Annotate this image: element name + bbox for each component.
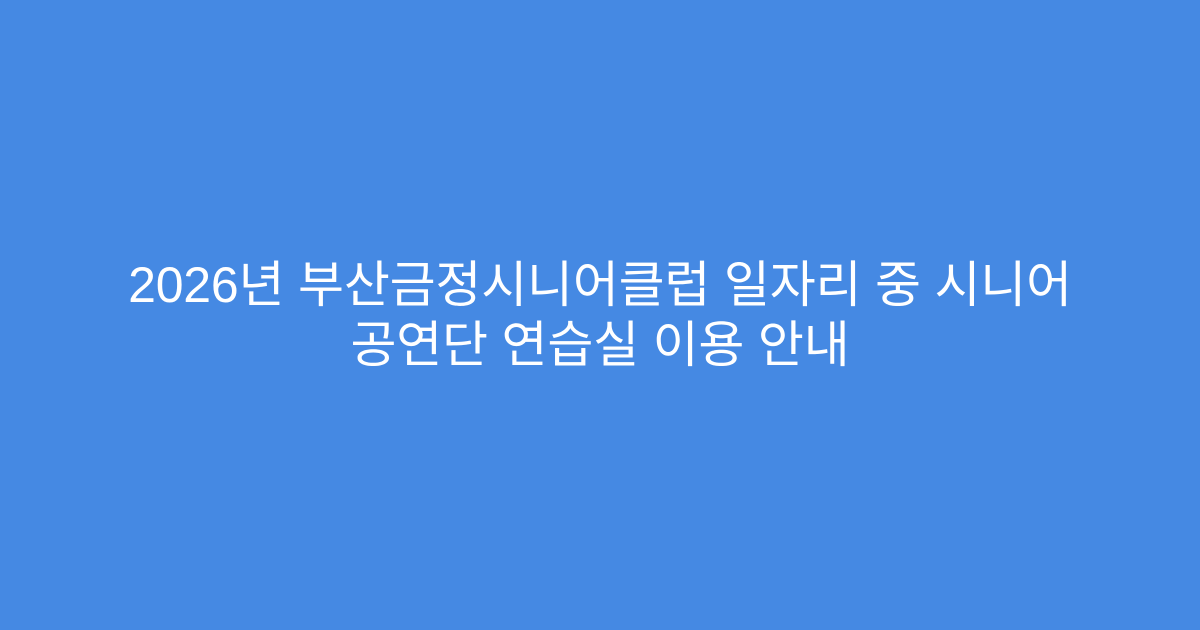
share-card-canvas: 2026년 부산금정시니어클럽 일자리 중 시니어 공연단 연습실 이용 안내 [0, 0, 1200, 630]
page-title: 2026년 부산금정시니어클럽 일자리 중 시니어 공연단 연습실 이용 안내 [70, 255, 1130, 375]
page-title-line-2: 공연단 연습실 이용 안내 [90, 315, 1110, 375]
page-title-line-1: 2026년 부산금정시니어클럽 일자리 중 시니어 [90, 255, 1110, 315]
